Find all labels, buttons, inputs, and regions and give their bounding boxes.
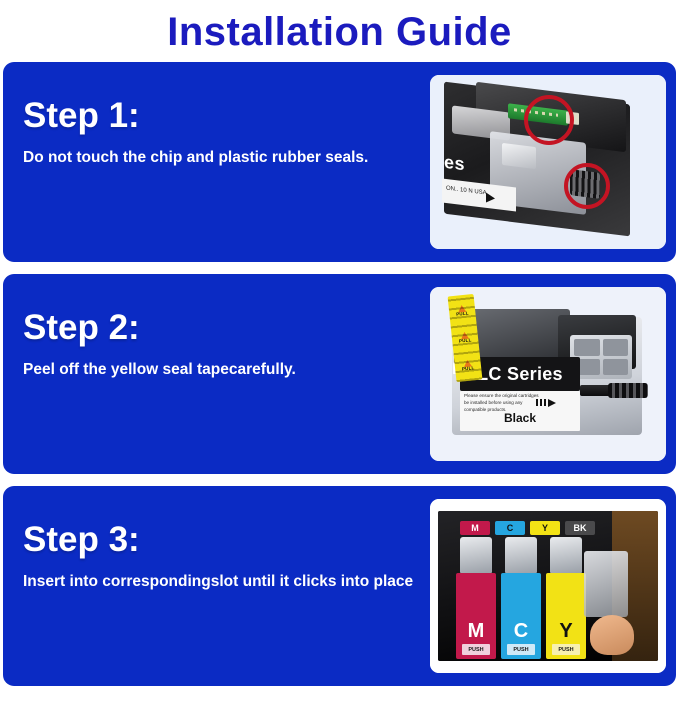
slot-c-cartridge: C PUSH xyxy=(501,573,541,659)
slot-c-push: PUSH xyxy=(507,644,535,655)
cartridge-nozzle-shape xyxy=(608,383,648,398)
slot-tab-m: M xyxy=(460,521,490,535)
step-2-description: Peel off the yellow seal tapecarefully. xyxy=(23,361,430,380)
slot-c-handle xyxy=(505,537,537,573)
slot-tab-m-label: M xyxy=(471,523,479,533)
label-arrow-icon xyxy=(548,399,556,407)
slot-tab-bk-label: BK xyxy=(574,523,587,533)
slot-m: M PUSH xyxy=(456,537,496,659)
printer-slots-photo: M C Y BK M PUSH xyxy=(430,499,666,673)
slot-y-letter: Y xyxy=(559,621,572,641)
series-text: LC Series xyxy=(477,364,563,385)
slot-y-handle xyxy=(550,537,582,573)
step-2-image-card: K LC Series Please ensure the original c… xyxy=(430,287,666,461)
steps-list: Step 1: Do not touch the chip and plasti… xyxy=(0,62,679,686)
step-3-description: Insert into correspondingslot until it c… xyxy=(23,573,430,592)
step-panel-2: Step 2: Peel off the yellow seal tapecar… xyxy=(3,274,676,474)
step-1-heading: Step 1: xyxy=(23,98,430,135)
slot-color-tabs: M C Y BK xyxy=(460,521,595,535)
step-3-heading: Step 3: xyxy=(23,522,430,559)
slot-m-handle xyxy=(460,537,492,573)
slot-m-cartridge: M PUSH xyxy=(456,573,496,659)
cartridge-color-name: Black xyxy=(460,411,580,425)
label-bars-icon xyxy=(536,399,547,406)
slot-m-push: PUSH xyxy=(462,644,490,655)
page-title: Installation Guide xyxy=(167,12,512,52)
slot-y-push: PUSH xyxy=(552,644,580,655)
step-1-image-card: ON.. 10 N USA es xyxy=(430,75,666,249)
red-circle-seal-icon xyxy=(564,163,610,209)
slot-y-cartridge: Y PUSH xyxy=(546,573,586,659)
cartridge-slots: M PUSH C PUSH xyxy=(456,537,586,659)
step-3-image-card: M C Y BK M PUSH xyxy=(430,499,666,673)
cartridge-side-text: es xyxy=(444,152,465,176)
slot-tab-c-label: C xyxy=(507,523,514,533)
hand-finger-shape xyxy=(590,615,634,655)
cartridge-yellow-tape-photo: K LC Series Please ensure the original c… xyxy=(430,287,666,461)
cartridge-chip-seal-photo: ON.. 10 N USA es xyxy=(430,75,666,249)
printer-frame-shape: M C Y BK M PUSH xyxy=(438,511,658,661)
slot-c-letter: C xyxy=(514,621,528,641)
red-circle-chip-icon xyxy=(524,95,574,145)
step-2-text-block: Step 2: Peel off the yellow seal tapecar… xyxy=(3,274,430,474)
cartridge-clear-inner-shape xyxy=(502,143,536,169)
slot-y: Y PUSH xyxy=(546,537,586,659)
step-1-text-block: Step 1: Do not touch the chip and plasti… xyxy=(3,62,430,262)
installation-guide-page: Installation Guide Step 1: Do not touch … xyxy=(0,0,679,707)
step-panel-1: Step 1: Do not touch the chip and plasti… xyxy=(3,62,676,262)
slot-tab-c: C xyxy=(495,521,525,535)
step-3-text-block: Step 3: Insert into correspondingslot un… xyxy=(3,486,430,686)
step-2-heading: Step 2: xyxy=(23,310,430,347)
label-arrow-icon xyxy=(486,192,495,203)
step-panel-3: Step 3: Insert into correspondingslot un… xyxy=(3,486,676,686)
title-bar: Installation Guide xyxy=(0,0,679,62)
slot-tab-y: Y xyxy=(530,521,560,535)
step-1-description: Do not touch the chip and plastic rubber… xyxy=(23,149,430,168)
slot-m-letter: M xyxy=(468,621,485,641)
slot-c: C PUSH xyxy=(501,537,541,659)
slot-tab-y-label: Y xyxy=(542,523,548,533)
slot-tab-bk: BK xyxy=(565,521,595,535)
clear-cartridge-being-inserted xyxy=(584,551,628,617)
